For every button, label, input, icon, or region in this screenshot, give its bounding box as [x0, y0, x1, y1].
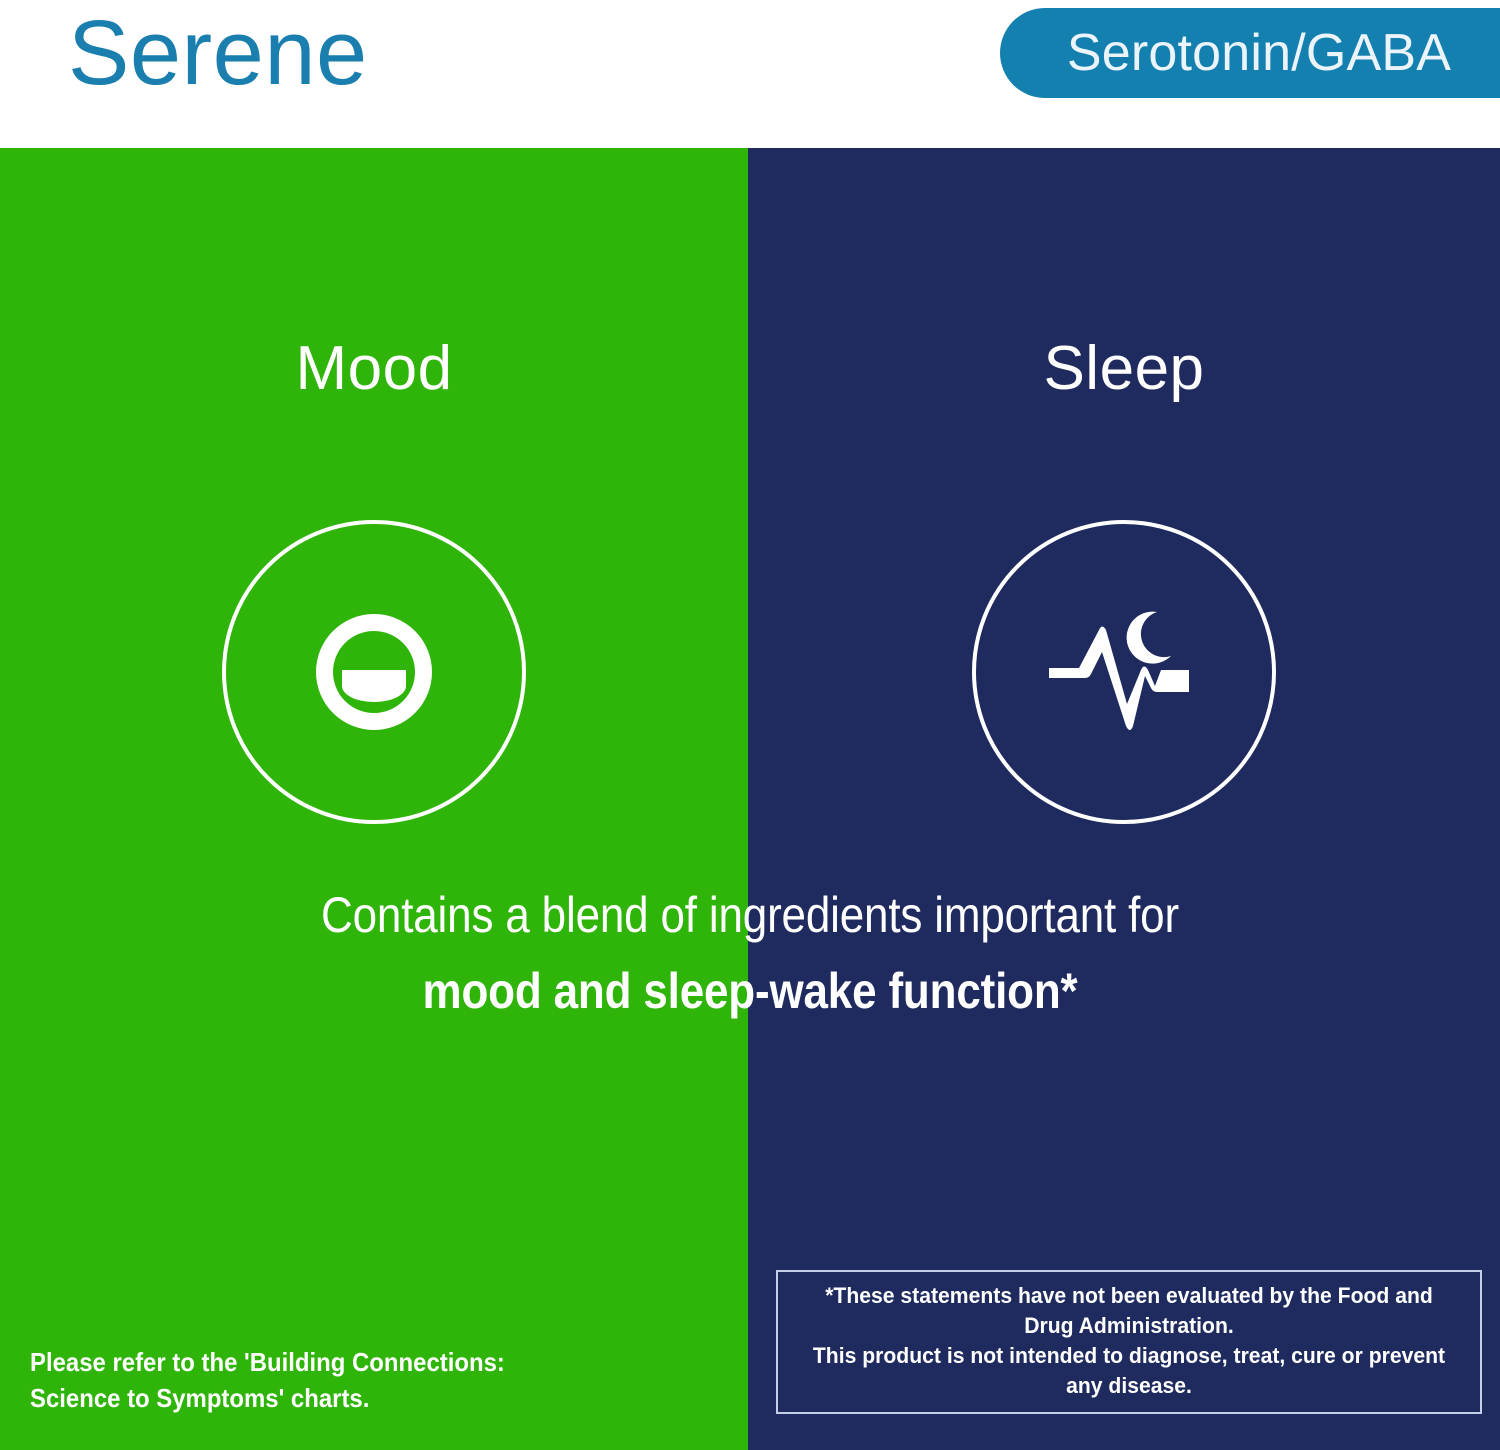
sleep-pulse-moon-icon [1049, 608, 1199, 736]
reference-note-line-1: Please refer to the 'Building Connection… [30, 1347, 505, 1377]
disclaimer-line-1: *These statements have not been evaluate… [825, 1283, 1433, 1338]
disclaimer-line-2: This product is not intended to diagnose… [808, 1341, 1449, 1401]
mood-icon-container [222, 520, 526, 824]
reference-note-line-2: Science to Symptoms' charts. [30, 1383, 369, 1413]
mood-half-fill-icon [342, 670, 406, 702]
reference-note: Please refer to the 'Building Connection… [30, 1344, 582, 1416]
panel-heading-sleep: Sleep [748, 334, 1500, 404]
header-bar: Serene Serotonin/GABA [0, 0, 1500, 148]
pulse-wave-icon [1049, 627, 1189, 731]
mood-circle-icon [316, 614, 432, 730]
panel-heading-mood: Mood [0, 334, 748, 404]
fda-disclaimer-text: *These statements have not been evaluate… [808, 1281, 1449, 1401]
fda-disclaimer-box: *These statements have not been evaluate… [776, 1270, 1482, 1414]
page-title: Serene [68, 0, 368, 112]
badge-label: Serotonin/GABA [1067, 24, 1451, 82]
product-info-graphic: Serene Serotonin/GABA Mood Sleep [0, 0, 1500, 1450]
panel-mood: Mood [0, 148, 748, 1450]
panels-container: Mood Sleep [0, 148, 1500, 1450]
panel-sleep: Sleep [748, 148, 1500, 1450]
crescent-moon-icon [1127, 612, 1171, 664]
neurotransmitter-badge: Serotonin/GABA [1000, 8, 1500, 98]
sleep-icon-container [972, 520, 1276, 824]
